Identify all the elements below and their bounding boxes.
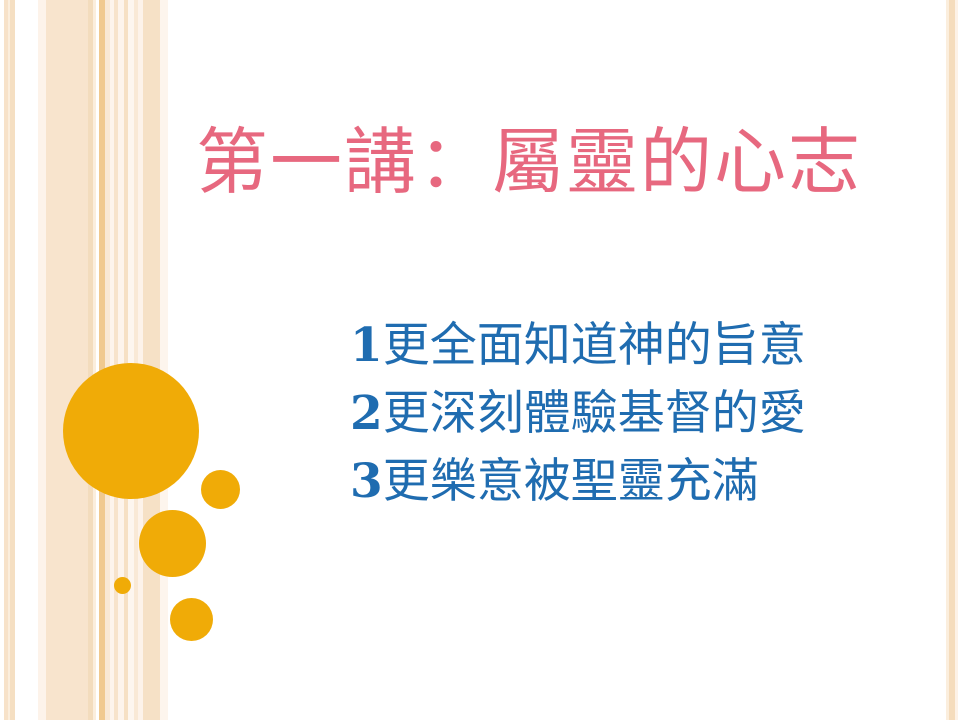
slide-body-list: 1更全面知道神的旨意 2更深刻體驗基督的愛 3更樂意被聖靈充滿 <box>350 312 910 516</box>
list-item-label: 更樂意被聖靈充滿 <box>383 454 759 509</box>
list-item-number: 3 <box>350 454 383 509</box>
list-item: 3更樂意被聖靈充滿 <box>350 448 910 516</box>
list-item-number: 2 <box>350 386 383 441</box>
list-item-label: 更深刻體驗基督的愛 <box>383 386 806 441</box>
list-item-number: 1 <box>350 318 383 373</box>
list-item-label: 更全面知道神的旨意 <box>383 318 806 373</box>
decorative-circle-small-lower <box>170 598 213 641</box>
presentation-slide: 第一講：屬靈的心志 1更全面知道神的旨意 2更深刻體驗基督的愛 3更樂意被聖靈充… <box>0 0 960 720</box>
slide-title: 第一講：屬靈的心志 <box>196 122 896 203</box>
decorative-circle-large <box>63 363 199 499</box>
decorative-circle-small-upper <box>201 470 240 509</box>
left-stripe-decoration <box>0 0 180 720</box>
list-item: 1更全面知道神的旨意 <box>350 312 910 380</box>
decorative-circle-tiny <box>114 577 131 594</box>
right-stripe-decoration <box>944 0 960 720</box>
list-item: 2更深刻體驗基督的愛 <box>350 380 910 448</box>
decorative-circle-medium <box>139 510 206 577</box>
